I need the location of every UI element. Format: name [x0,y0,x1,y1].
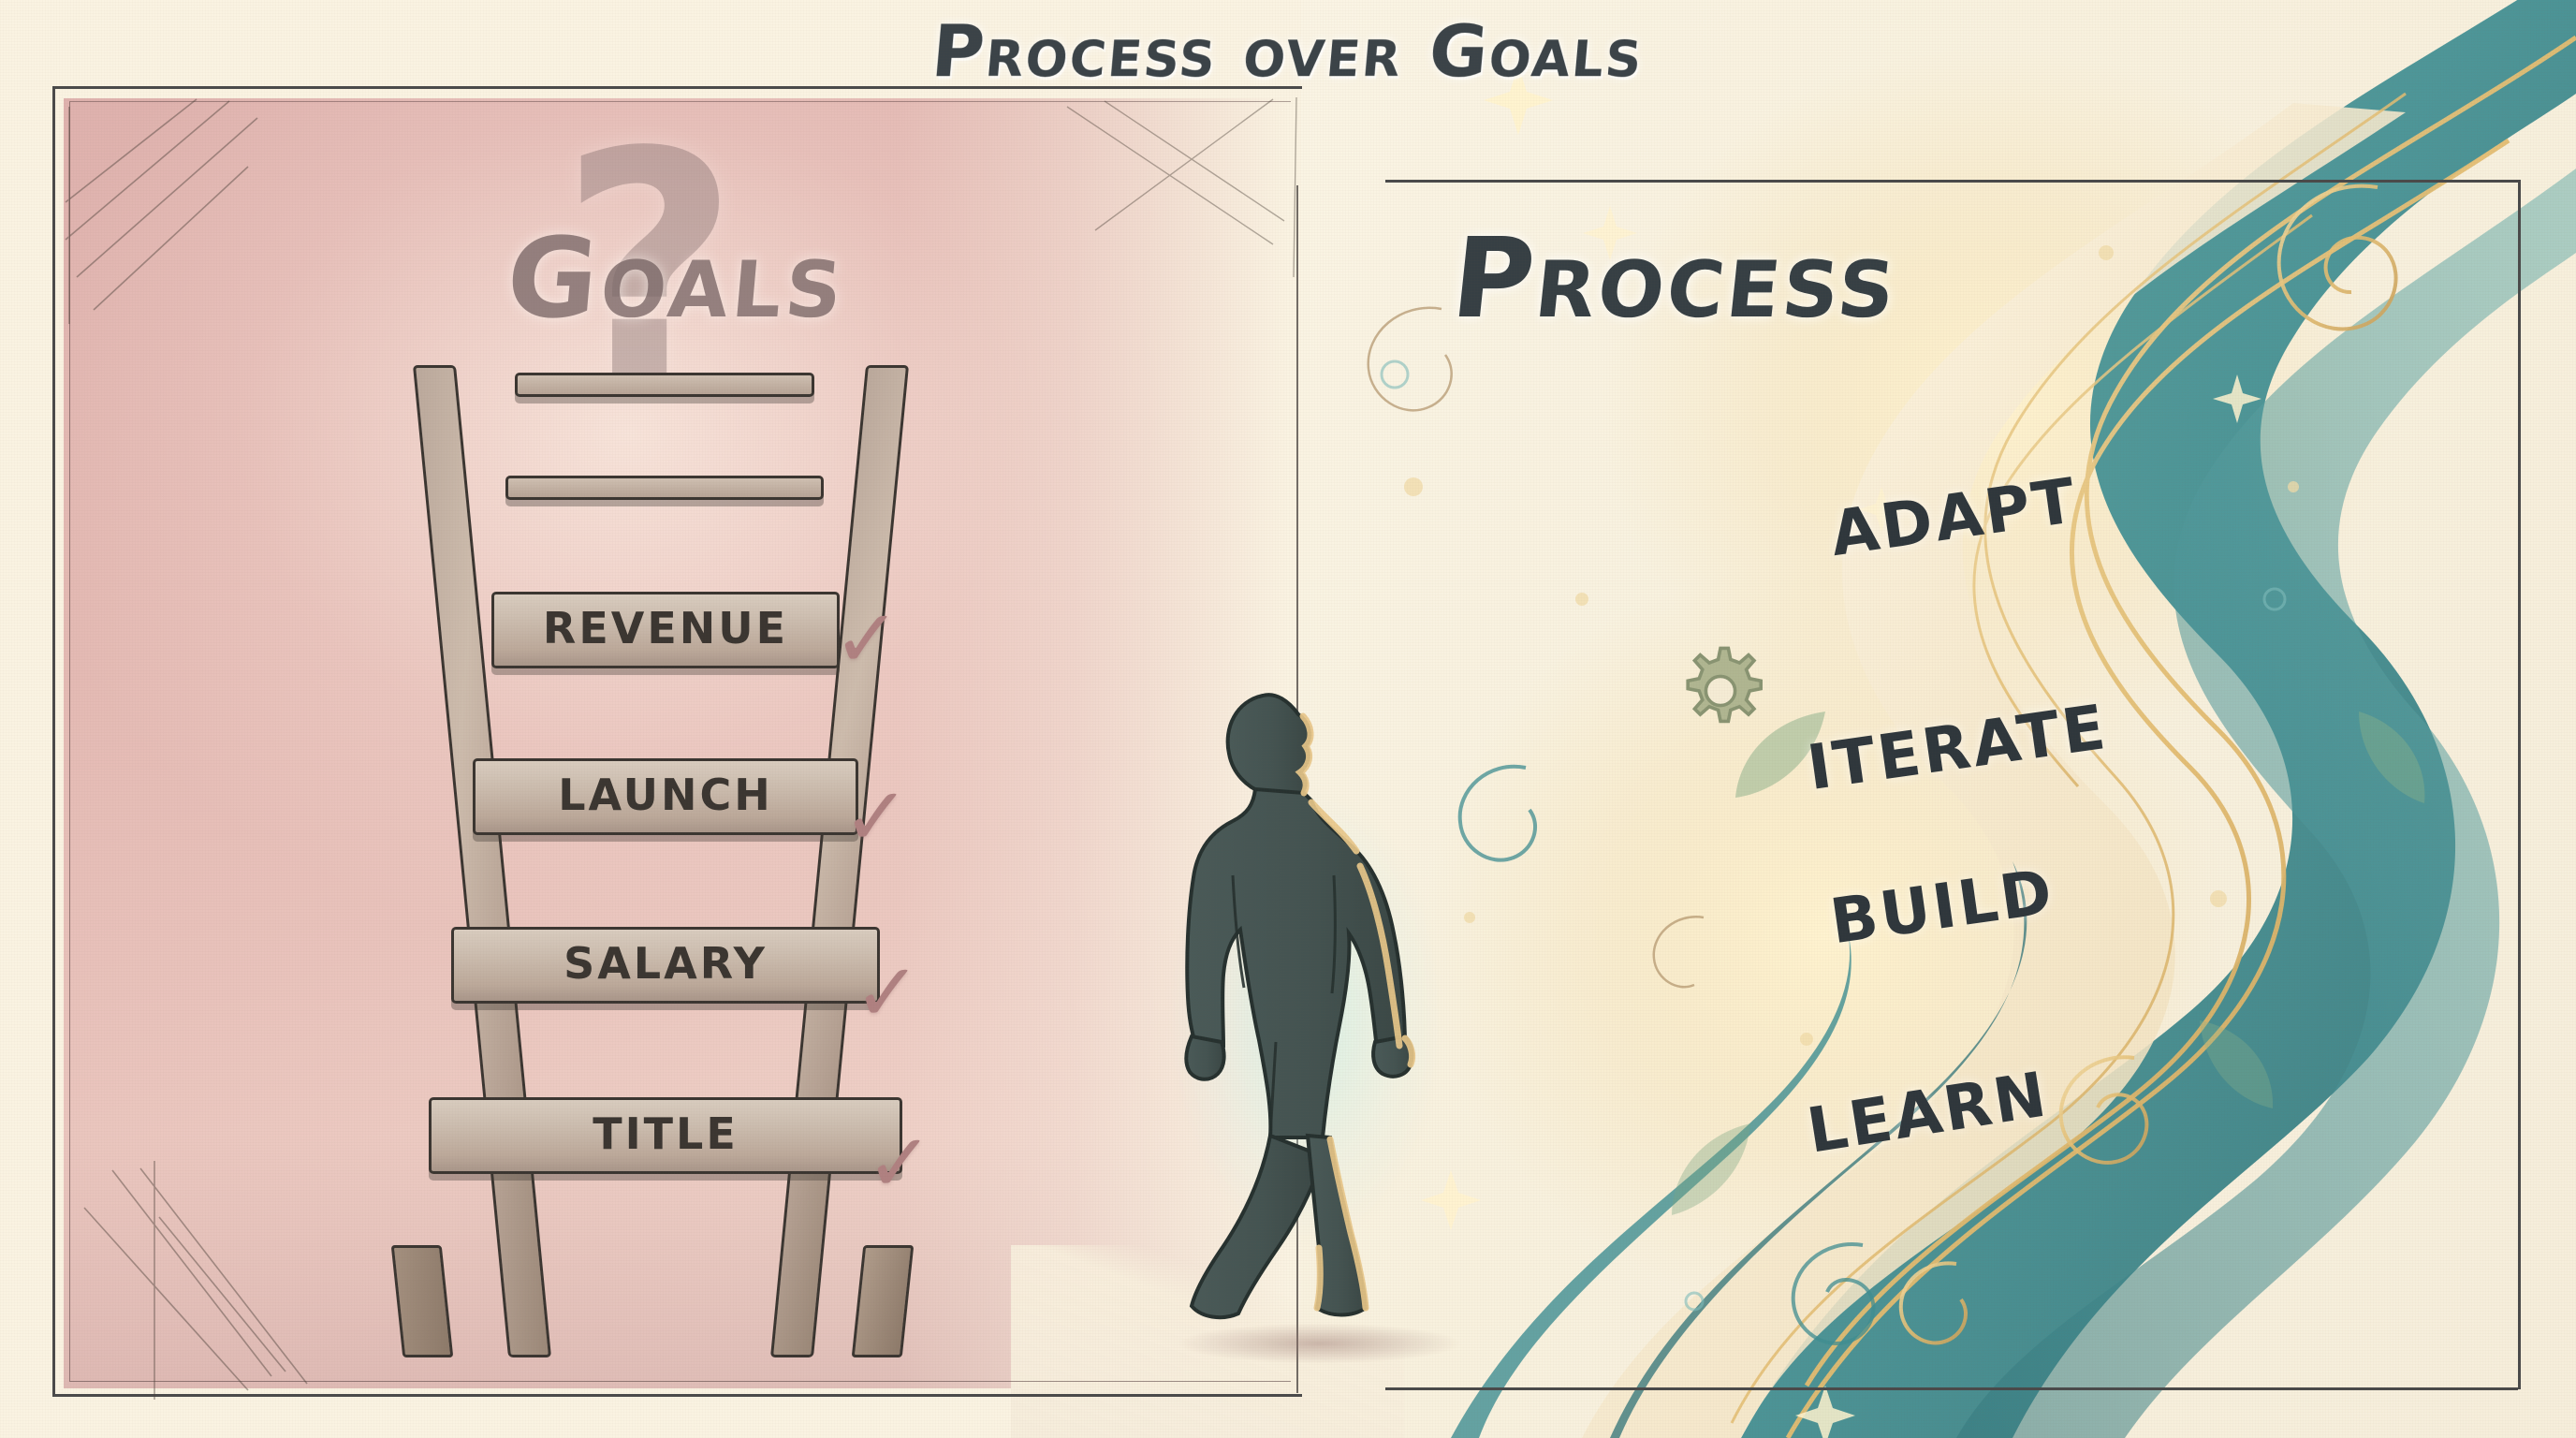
ladder-rung-label: SALARY [563,938,768,989]
gear-icon [1664,635,1777,747]
ladder-foot-left [391,1245,454,1357]
ladder-rung-label: LAUNCH [558,770,773,820]
ladder-rung-label: TITLE [593,1108,739,1159]
ladder-foot-right [852,1245,915,1357]
ladder-rung-launch: LAUNCH [473,758,858,835]
ladder-rail-left [413,365,551,1357]
ladder-rung-label: REVENUE [543,603,788,653]
process-panel-border-bottom [1385,1387,2518,1390]
ladder-rung-blank-2 [505,476,824,500]
page-title: Process over Goals [0,9,2576,93]
process-panel-border-top [1385,180,2518,183]
ladder-rung-blank-top [515,373,814,397]
ladder-rung-salary: SALARY [451,927,880,1004]
goals-heading: Goals [58,213,1295,343]
person-silhouette-icon [1165,688,1437,1334]
walking-figure [1165,688,1437,1334]
ladder-rung-revenue: REVENUE [491,592,840,668]
process-heading: Process [1299,213,2053,343]
checkmark-revenue-icon: ✓ [833,599,900,680]
checkmark-launch-icon: ✓ [842,777,910,858]
poster-canvas: Process over Goals [0,0,2576,1438]
checkmark-salary-icon: ✓ [854,953,921,1034]
process-panel-border-right [2518,180,2521,1389]
ladder-rung-title: TITLE [429,1097,902,1174]
checkmark-title-icon: ✓ [866,1123,933,1204]
